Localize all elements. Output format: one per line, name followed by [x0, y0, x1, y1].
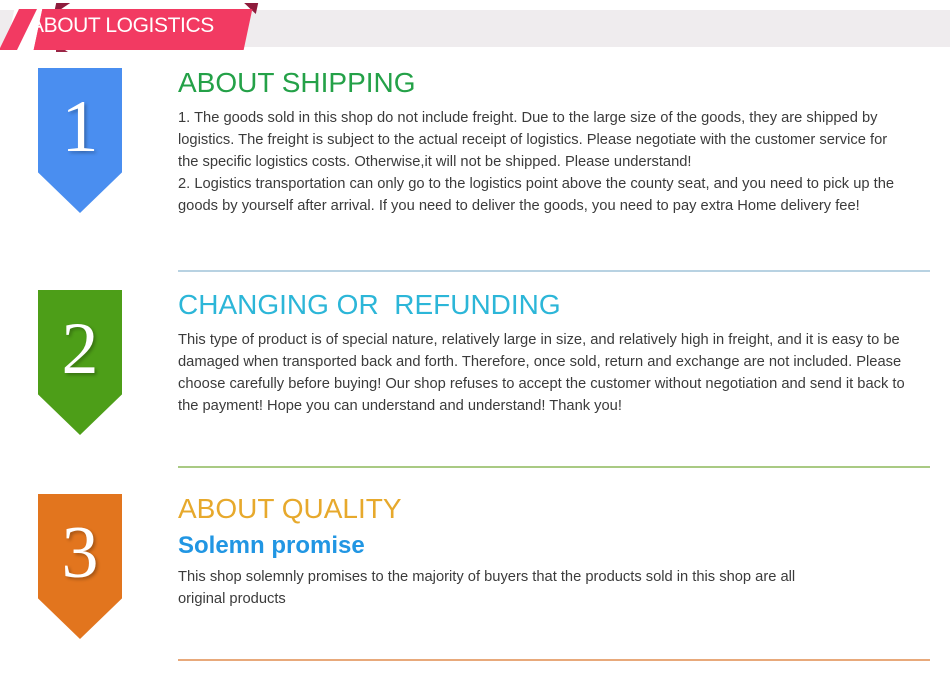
section-title: ABOUT QUALITY	[178, 494, 938, 523]
ribbon-title: ABOUT LOGISTICS	[30, 14, 214, 38]
section-divider	[178, 659, 930, 661]
section-content-3: ABOUT QUALITY Solemn promise This shop s…	[178, 494, 938, 610]
badge-number: 2	[62, 312, 99, 386]
section-title: ABOUT SHIPPING	[178, 68, 938, 97]
section-title: CHANGING OR REFUNDING	[178, 290, 938, 319]
page-header: ABOUT LOGISTICS	[0, 0, 950, 60]
section-badge-1: 1	[38, 68, 122, 213]
section-paragraph: 1. The goods sold in this shop do not in…	[178, 107, 906, 173]
section-paragraph: 2. Logistics transportation can only go …	[178, 173, 906, 217]
section-badge-2: 2	[38, 290, 122, 435]
section-paragraph: This type of product is of special natur…	[178, 329, 906, 417]
section-divider	[178, 466, 930, 468]
badge-number: 3	[62, 516, 99, 590]
section-subtitle: Solemn promise	[178, 533, 938, 559]
section-paragraph: This shop solemnly promises to the major…	[178, 566, 838, 610]
section-badge-3: 3	[38, 494, 122, 639]
badge-number: 1	[62, 90, 99, 164]
section-content-1: ABOUT SHIPPING 1. The goods sold in this…	[178, 68, 938, 217]
section-divider	[178, 270, 930, 272]
section-content-2: CHANGING OR REFUNDING This type of produ…	[178, 290, 938, 417]
